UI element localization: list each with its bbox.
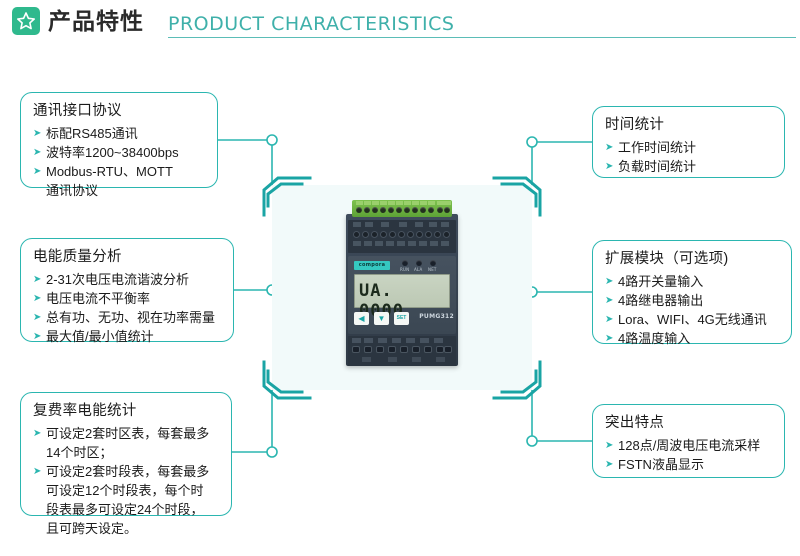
list-item: ➤Lora、WIFI、4G无线通讯	[605, 310, 781, 329]
list-item: ➤负载时间统计	[605, 157, 774, 176]
info-box-tariff: 复费率电能统计 ➤可设定2套时区表，每套最多14个时区； ➤可设定2套时段表，每…	[20, 392, 232, 516]
bullet-arrow-icon: ➤	[33, 162, 41, 181]
bullet-arrow-icon: ➤	[33, 424, 41, 443]
lcd-display: UA. 0000	[354, 274, 450, 308]
bullet-arrow-icon: ➤	[33, 143, 41, 162]
star-badge	[12, 7, 40, 35]
box-title: 电能质量分析	[33, 247, 223, 267]
bullet-arrow-icon: ➤	[605, 329, 613, 348]
box-item-list: ➤可设定2套时区表，每套最多14个时区； ➤可设定2套时段表，每套最多可设定12…	[33, 424, 221, 538]
box-item-list: ➤工作时间统计 ➤负载时间统计	[605, 138, 774, 176]
list-item: ➤标配RS485通讯	[33, 124, 207, 143]
list-item: ➤FSTN液晶显示	[605, 455, 774, 474]
set-button[interactable]: SET	[394, 312, 409, 325]
box-item-list: ➤4路开关量输入 ➤4路继电器输出 ➤Lora、WIFI、4G无线通讯 ➤4路温…	[605, 272, 781, 348]
bullet-arrow-icon: ➤	[605, 157, 613, 176]
bullet-arrow-icon: ➤	[605, 272, 613, 291]
info-box-expansion-module: 扩展模块（可选项) ➤4路开关量输入 ➤4路继电器输出 ➤Lora、WIFI、4…	[592, 240, 792, 344]
info-box-power-quality: 电能质量分析 ➤2-31次电压电流谐波分析 ➤电压电流不平衡率 ➤总有功、无功、…	[20, 238, 234, 342]
device-image: compora RUN ALA NET UA. 0000 ◀ ▼ SET PUM…	[335, 196, 469, 376]
list-item: ➤2-31次电压电流谐波分析	[33, 270, 223, 289]
bullet-arrow-icon: ➤	[605, 138, 613, 157]
connector-node	[267, 135, 277, 145]
list-item: ➤4路温度输入	[605, 329, 781, 348]
led-indicators: RUN ALA NET	[400, 260, 442, 273]
list-item: ➤电压电流不平衡率	[33, 289, 223, 308]
box-item-list: ➤128点/周波电压电流采样 ➤FSTN液晶显示	[605, 436, 774, 474]
device-faceplate: compora RUN ALA NET UA. 0000 ◀ ▼ SET PUM…	[348, 256, 456, 334]
bottom-terminal-strip	[348, 336, 456, 366]
down-arrow-button[interactable]: ▼	[374, 312, 389, 325]
bullet-arrow-icon: ➤	[33, 289, 41, 308]
bullet-arrow-icon: ➤	[33, 124, 41, 143]
list-item: ➤可设定2套时段表，每套最多可设定12个时段表，每个时段表最多可设定24个时段，…	[33, 462, 221, 538]
led-label-run: RUN	[400, 267, 409, 272]
connector-node	[527, 137, 537, 147]
bullet-arrow-icon: ➤	[605, 436, 613, 455]
bullet-arrow-icon: ➤	[605, 455, 613, 474]
page-title-cn: 产品特性	[48, 6, 144, 36]
bullet-arrow-icon: ➤	[605, 310, 613, 329]
page-header: 产品特性 PRODUCT CHARACTERISTICS	[0, 0, 800, 42]
header-divider	[168, 37, 796, 38]
top-terminal-strip	[348, 220, 456, 253]
bullet-arrow-icon: ➤	[33, 327, 41, 346]
led-label-net: NET	[428, 267, 437, 272]
led-label-ala: ALA	[414, 267, 422, 272]
box-title: 突出特点	[605, 413, 774, 433]
left-arrow-button[interactable]: ◀	[354, 312, 369, 325]
list-item: ➤可设定2套时区表，每套最多14个时区；	[33, 424, 221, 462]
list-item: ➤总有功、无功、视在功率需量	[33, 308, 223, 327]
list-item: ➤波特率1200~38400bps	[33, 143, 207, 162]
green-terminal-block	[352, 200, 452, 217]
brand-logo: compora	[354, 261, 390, 270]
list-item: ➤Modbus-RTU、MOTT通讯协议	[33, 162, 207, 200]
star-icon	[16, 11, 36, 31]
bullet-arrow-icon: ➤	[33, 270, 41, 289]
device-model-label: PUMG312	[414, 313, 454, 320]
box-title: 通讯接口协议	[33, 101, 207, 121]
list-item: ➤工作时间统计	[605, 138, 774, 157]
info-box-features: 突出特点 ➤128点/周波电压电流采样 ➤FSTN液晶显示	[592, 404, 785, 478]
bullet-arrow-icon: ➤	[33, 462, 41, 481]
page-title-en: PRODUCT CHARACTERISTICS	[168, 11, 455, 37]
keypad: ◀ ▼ SET	[354, 312, 414, 326]
bullet-arrow-icon: ➤	[33, 308, 41, 327]
list-item: ➤最大值/最小值统计	[33, 327, 223, 346]
list-item: ➤128点/周波电压电流采样	[605, 436, 774, 455]
bullet-arrow-icon: ➤	[605, 291, 613, 310]
box-title: 复费率电能统计	[33, 401, 221, 421]
box-item-list: ➤2-31次电压电流谐波分析 ➤电压电流不平衡率 ➤总有功、无功、视在功率需量 …	[33, 270, 223, 346]
connector-node	[527, 436, 537, 446]
box-title: 时间统计	[605, 115, 774, 135]
box-title: 扩展模块（可选项)	[605, 249, 781, 269]
list-item: ➤4路继电器输出	[605, 291, 781, 310]
info-box-communication: 通讯接口协议 ➤标配RS485通讯 ➤波特率1200~38400bps ➤Mod…	[20, 92, 218, 188]
info-box-time-statistics: 时间统计 ➤工作时间统计 ➤负载时间统计	[592, 106, 785, 178]
list-item: ➤4路开关量输入	[605, 272, 781, 291]
box-item-list: ➤标配RS485通讯 ➤波特率1200~38400bps ➤Modbus-RTU…	[33, 124, 207, 200]
connector-node	[267, 447, 277, 457]
